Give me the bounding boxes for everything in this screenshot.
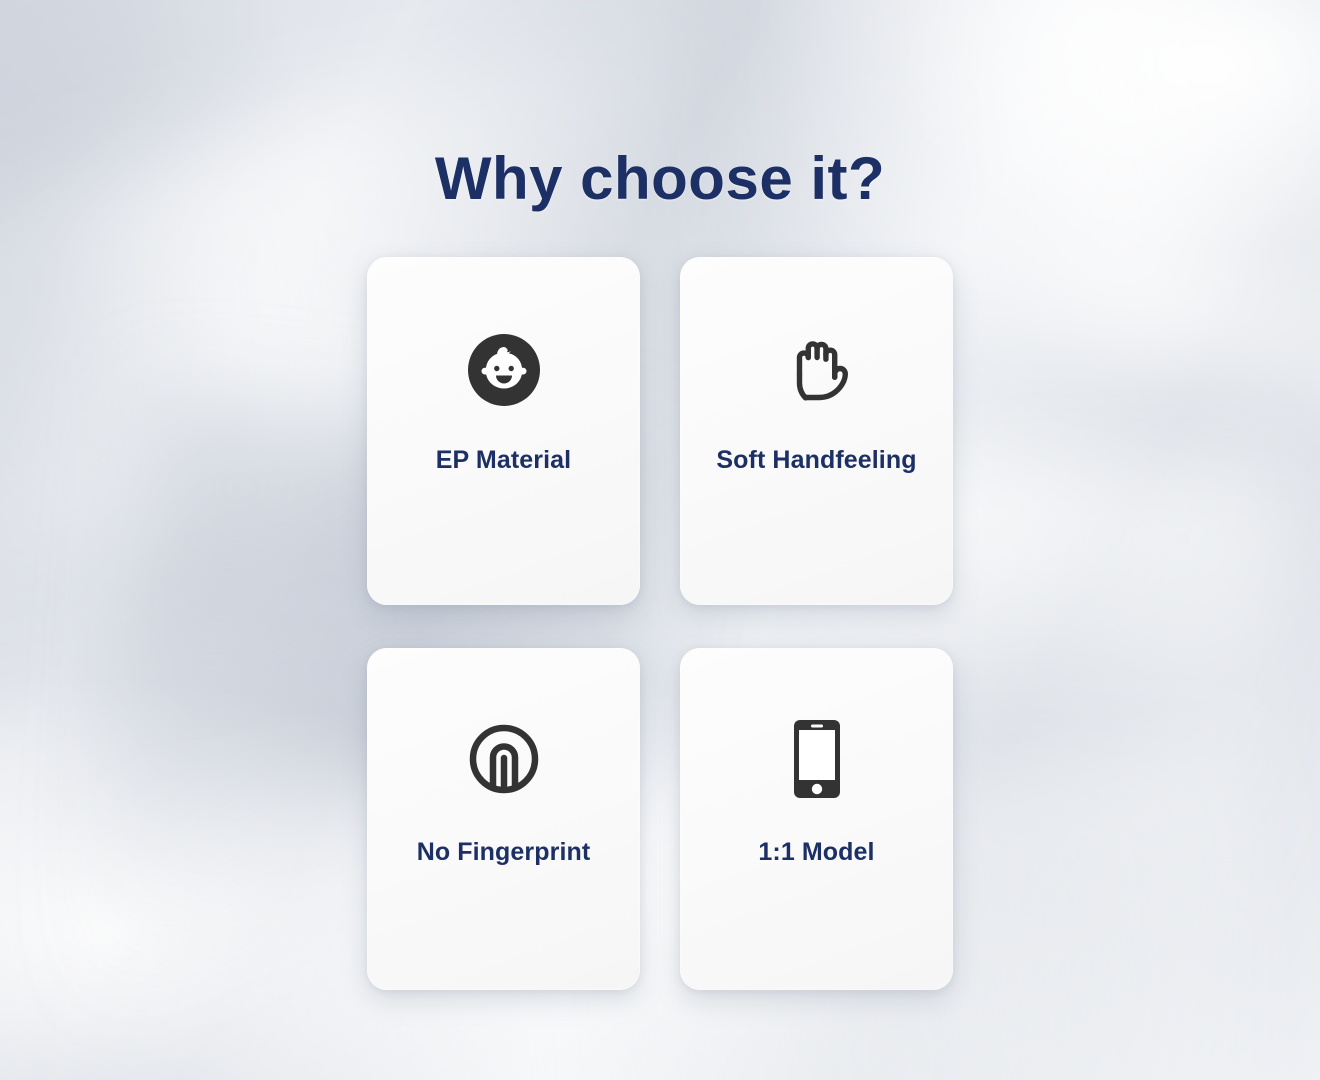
feature-card-label: 1:1 Model: [758, 838, 874, 867]
feature-card-no-fingerprint[interactable]: No Fingerprint: [367, 648, 640, 990]
feature-card-label: EP Material: [436, 446, 571, 475]
page-title: Why choose it?: [0, 144, 1320, 213]
feature-card-ep-material[interactable]: EP Material: [367, 257, 640, 605]
feature-card-soft-handfeeling[interactable]: Soft Handfeeling: [680, 257, 953, 605]
feature-card-grid: EP Material Soft Handfeeling: [367, 257, 952, 990]
feature-card-label: Soft Handfeeling: [716, 446, 916, 475]
feature-card-one-to-one-model[interactable]: 1:1 Model: [680, 648, 953, 990]
open-hand-icon: [774, 327, 860, 413]
feature-card-label: No Fingerprint: [417, 838, 591, 867]
baby-face-icon: [461, 327, 547, 413]
smartphone-icon: [774, 716, 860, 802]
fingerprint-icon: [461, 716, 547, 802]
feature-section: Why choose it? EP Material: [0, 0, 1320, 1080]
